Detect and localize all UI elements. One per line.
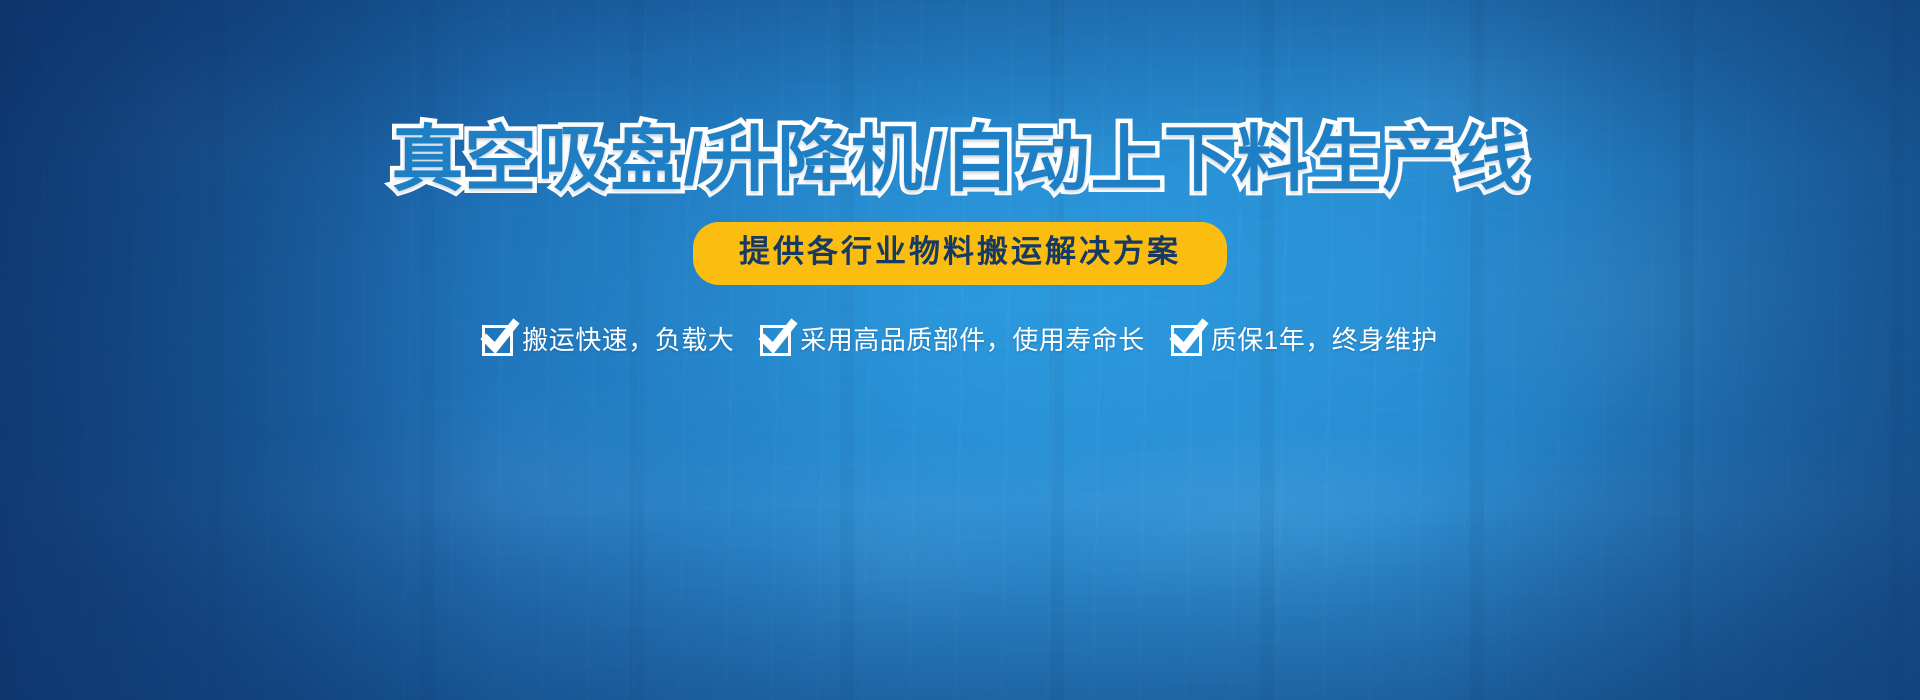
checkbox-check-icon bbox=[760, 325, 791, 356]
feature-label: 采用高品质部件，使用寿命长 bbox=[800, 327, 1145, 353]
subtitle-badge: 提供各行业物料搬运解决方案 bbox=[693, 222, 1227, 285]
feature-item: 质保1年，终身维护 bbox=[1171, 325, 1438, 356]
hero-banner: 真空吸盘/升降机/自动上下料生产线 提供各行业物料搬运解决方案 搬运快速，负载大… bbox=[0, 0, 1920, 700]
banner-headline: 真空吸盘/升降机/自动上下料生产线 bbox=[391, 122, 1528, 200]
feature-label: 搬运快速，负载大 bbox=[522, 327, 734, 353]
feature-item: 搬运快速，负载大 bbox=[482, 325, 734, 356]
feature-item: 采用高品质部件，使用寿命长 bbox=[760, 325, 1145, 356]
checkbox-check-icon bbox=[1171, 325, 1202, 356]
feature-list: 搬运快速，负载大 采用高品质部件，使用寿命长 质保1年，终身维护 bbox=[482, 325, 1438, 356]
banner-content: 真空吸盘/升降机/自动上下料生产线 提供各行业物料搬运解决方案 搬运快速，负载大… bbox=[0, 0, 1920, 700]
checkbox-check-icon bbox=[482, 325, 513, 356]
feature-label: 质保1年，终身维护 bbox=[1211, 327, 1438, 353]
